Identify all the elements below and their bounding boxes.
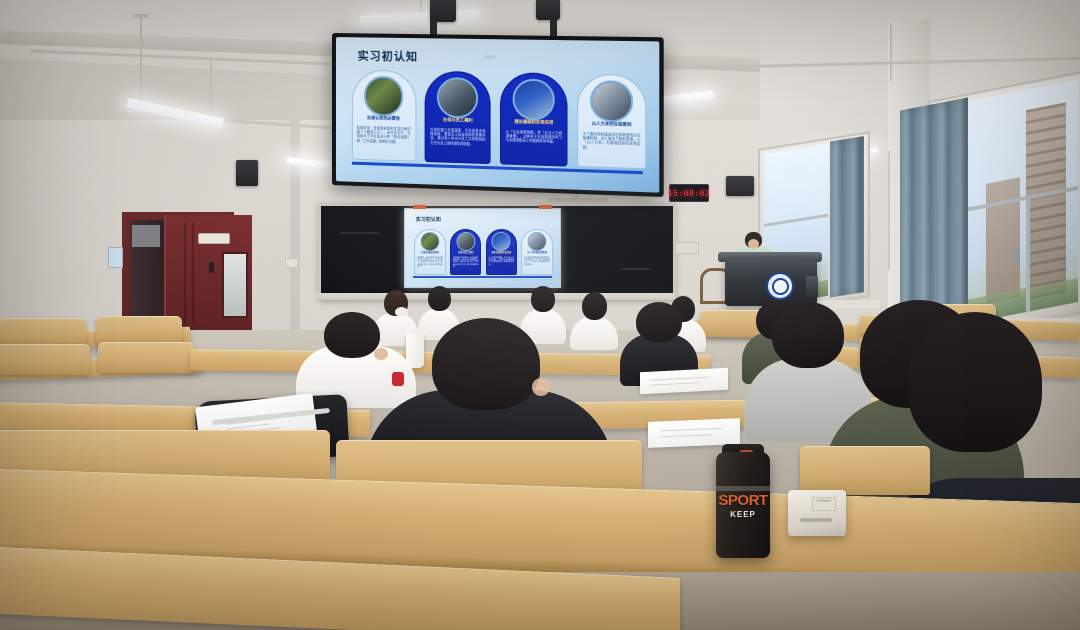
slide-panel-body: 社保制度工作是国家、不仅是基本保障制度，更是员工权益保障的重要内容，通过用人单位…: [430, 127, 485, 146]
student-head: [428, 286, 451, 311]
slide-title: 实习初认知: [358, 47, 419, 64]
student-head: [432, 318, 540, 410]
presenter-face: [748, 239, 759, 249]
slide-panel-body: 从「社会保障制度」到「企业人力资源管理」，这种对于社保制度的学习与实践帮助员工的…: [506, 129, 562, 144]
bench-seat[interactable]: [0, 318, 86, 347]
student-head: [908, 312, 1042, 452]
slide-panel-body: 社保事关、社保是在现实生活中我们每个人都关心之一，在毕业生中，社保成为了毕业生关…: [357, 125, 411, 144]
projected-panel-2: 社保与员工福利社保制度工作是国家、不仅是基本保障制度，更是员工权益保障的重要内容…: [450, 229, 481, 275]
ceiling-projector-box: [430, 0, 456, 22]
wall-notice-sign: [108, 247, 123, 268]
bench-seat[interactable]: [0, 344, 90, 375]
projected-panel-1: 社保认知的必要性社保事关、社保是在现实生活中我们每个人都关心之一，在毕业生中，社…: [414, 229, 445, 275]
paper-sheet[interactable]: [640, 368, 728, 395]
window-mullion: [1026, 199, 1030, 312]
tv-bezel: 实习初认知 社保认知的必要性社保事关、社保是在现实生活中我们每个人都关心之一，在…: [336, 37, 659, 193]
projected-slide: 实习初认知 社保认知的必要性社保事关、社保是在现实生活中我们每个人都关心之一，在…: [405, 209, 560, 287]
slide-panel-heading: 社保认知的必要性: [356, 115, 411, 122]
wall-conduit: [888, 150, 890, 270]
ceiling-projector-box: [536, 0, 560, 20]
slide-logo: [484, 55, 494, 58]
digital-clock: 15:08:02: [669, 184, 709, 202]
wall-speaker: [236, 160, 258, 186]
tissue-opening: [800, 518, 832, 522]
chalk-tray: [316, 293, 674, 298]
tissue-pack[interactable]: TISSUE: [788, 490, 846, 536]
slide-panel-3: 理论基础和实务应用从「社会保障制度」到「企业人力资源管理」，这种对于社保制度的学…: [500, 72, 568, 167]
ceiling-conduit-drop: [890, 22, 892, 82]
tissue-label: TISSUE: [812, 497, 836, 511]
bottle-sub-text: KEEP: [716, 510, 770, 519]
wall-mounted-tv: 实习初认知 社保认知的必要性社保事关、社保是在现实生活中我们每个人都关心之一，在…: [332, 33, 664, 197]
clock-display: 15:08:02: [668, 189, 711, 198]
window-glass: [968, 80, 1078, 323]
projected-slide-title: 实习初认知: [416, 216, 441, 223]
student-ear: [532, 378, 550, 396]
slide-panel-4: 以人为本的社保策划为了更好地构建适应社保制度的企业管理机制，员工提出了新的需求，…: [577, 73, 646, 169]
slide-panel-photo: [590, 80, 633, 123]
slide-panel-2: 社保与员工福利社保制度工作是国家、不仅是基本保障制度，更是员工权益保障的重要内容…: [425, 70, 491, 164]
projector-bar: [548, 198, 608, 203]
window-handle[interactable]: [1014, 246, 1018, 263]
door-handle[interactable]: [209, 262, 214, 273]
wall-speaker: [726, 176, 754, 196]
slide-panel-body: 为了更好地构建适应社保制度的企业管理机制，员工提出了新的需求，以「以人为本」为基…: [583, 131, 641, 151]
slide-panel-photo: [437, 77, 478, 119]
projected-panel-4: 以人为本的社保策划为了更好地构建适应社保制度的企业管理机制，员工提出了新的需求，…: [521, 229, 552, 275]
bench-seat[interactable]: [800, 446, 930, 495]
podium-side-panel: [806, 276, 818, 298]
curtain[interactable]: [830, 136, 864, 297]
classroom-photo: 实习初认知 社保认知的必要性社保事关、社保是在现实生活中我们每个人都关心之一，在…: [0, 0, 1080, 630]
university-emblem-icon: [766, 272, 794, 300]
slide-panel-photo: [363, 76, 403, 117]
slide-panel-photo: [513, 78, 555, 120]
tv-mount-bracket: [550, 18, 557, 36]
bottle-brand-text: SPORT: [716, 492, 770, 509]
slide-panel-1: 社保认知的必要性社保事关、社保是在现实生活中我们每个人都关心之一，在毕业生中，社…: [351, 69, 416, 162]
slide-panels: 社保认知的必要性社保事关、社保是在现实生活中我们每个人都关心之一，在毕业生中，社…: [336, 37, 659, 41]
projector-screen: 实习初认知 社保认知的必要性社保事关、社保是在现实生活中我们每个人都关心之一，在…: [404, 208, 561, 288]
lamp-stem: [140, 18, 142, 108]
projected-panel-3: 理论基础和实务应用从「社会保障制度」到「企业人力资源管理」，这种对于社保制度的学…: [486, 229, 517, 275]
wall-panel: [675, 242, 699, 254]
door-open-glass: [132, 225, 160, 247]
door-window: [222, 252, 248, 318]
slide-panel-heading: 社保与员工福利: [430, 117, 486, 124]
student-head: [582, 292, 607, 320]
tv-slide: 实习初认知 社保认知的必要性社保事关、社保是在现实生活中我们每个人都关心之一，在…: [336, 37, 659, 193]
wall-outlet[interactable]: [285, 258, 298, 268]
slide-panel-heading: 以人为本的社保策划: [582, 120, 641, 127]
bottle-band: [716, 486, 770, 491]
slide-panel-heading: 理论基础和实务应用: [505, 118, 563, 125]
bench-seat[interactable]: [96, 316, 182, 345]
bench-seat[interactable]: [98, 342, 194, 373]
student-head: [531, 286, 555, 312]
door-room-number-plate: [198, 233, 230, 244]
student-head: [636, 302, 682, 342]
emblem-inner-ring: [772, 278, 789, 295]
projected-slide-underline: [413, 276, 553, 278]
